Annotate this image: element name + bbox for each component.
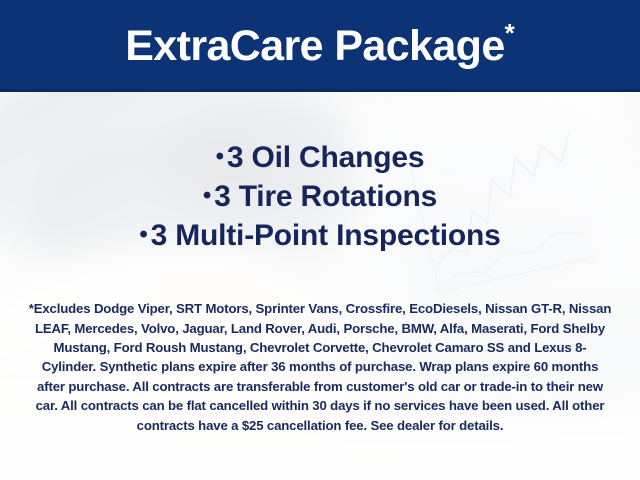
benefit-item-label: 3 Multi-Point Inspections <box>151 219 501 252</box>
benefit-item-oil-changes: •3 Oil Changes <box>0 138 640 177</box>
page-title-text: ExtraCare Package <box>125 22 504 70</box>
extracare-package-ad: ExtraCare Package* •3 Oil Changes •3 Tir… <box>0 0 640 480</box>
benefit-item-tire-rotations: •3 Tire Rotations <box>0 177 640 216</box>
page-title: ExtraCare Package* <box>125 20 515 70</box>
header-banner: ExtraCare Package* <box>0 0 640 92</box>
disclaimer-text: *Excludes Dodge Viper, SRT Motors, Sprin… <box>28 299 612 435</box>
bullet-icon: • <box>139 221 150 248</box>
benefit-item-label: 3 Oil Changes <box>227 141 424 174</box>
bullet-icon: • <box>216 143 227 170</box>
benefits-list: •3 Oil Changes •3 Tire Rotations •3 Mult… <box>0 138 640 255</box>
title-asterisk: * <box>505 18 515 48</box>
benefit-item-label: 3 Tire Rotations <box>214 180 437 213</box>
benefit-item-multi-point-inspections: •3 Multi-Point Inspections <box>0 216 640 255</box>
bullet-icon: • <box>203 182 214 209</box>
